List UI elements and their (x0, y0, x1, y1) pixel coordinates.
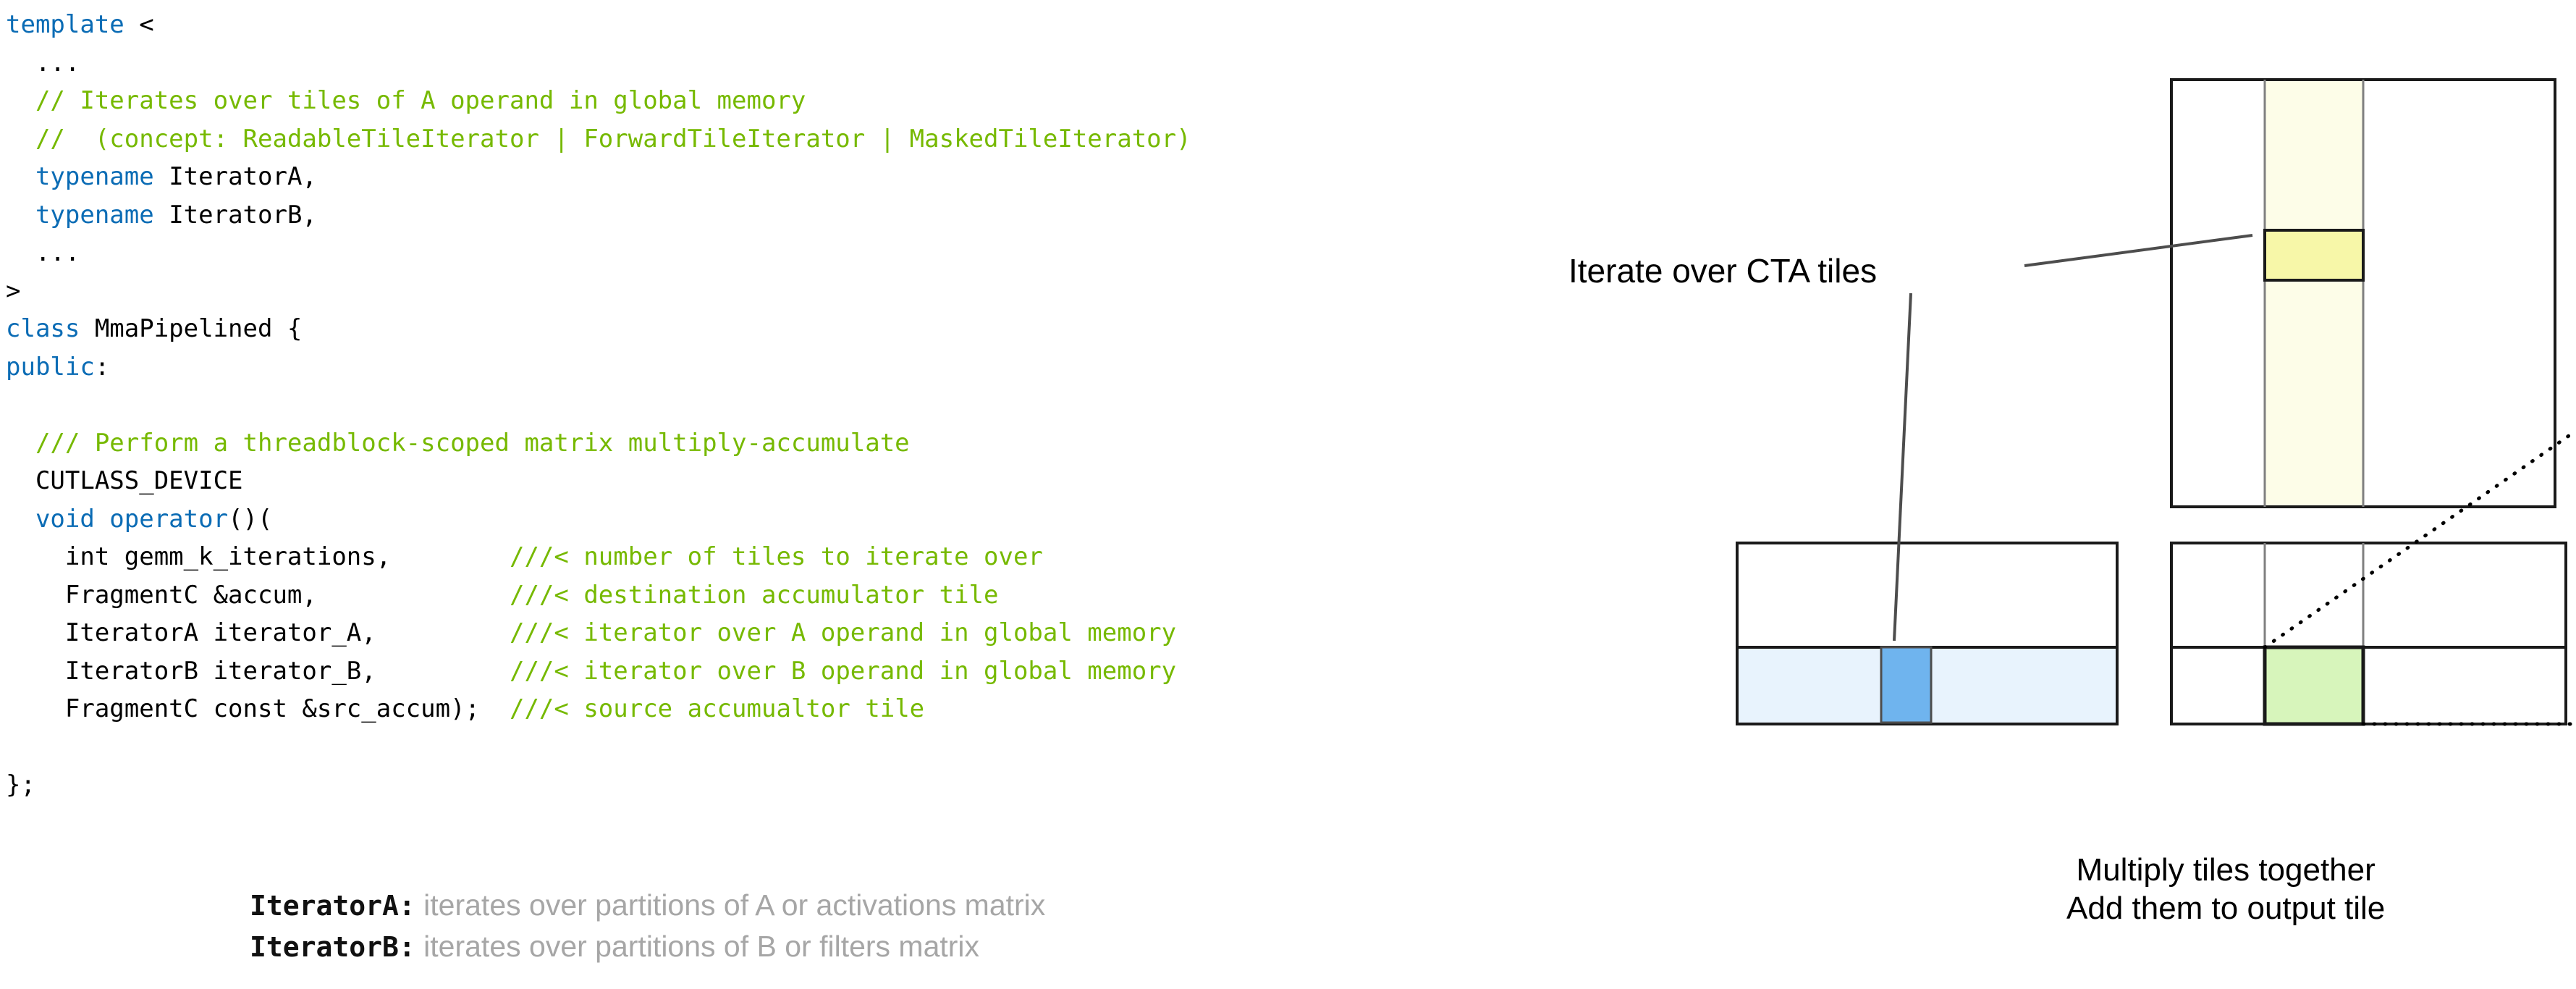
code-line-11: /// Perform a threadblock-scoped matrix … (6, 424, 1671, 463)
leader-line-to-b-tile (2024, 235, 2252, 266)
code-token-cmt: // (concept: ReadableTileIterator | Forw… (6, 125, 1191, 153)
code-line-13: void operator()( (6, 500, 1671, 539)
code-token-cmt: ///< destination accumulator tile (510, 581, 999, 610)
projection-diagonal-dotted (2265, 431, 2576, 647)
a-matrix-outline (1737, 543, 2117, 724)
code-token-pln: IteratorB iterator_B, (6, 657, 510, 686)
panel-b-operand-matrix (2171, 80, 2555, 507)
legend-description: iterates over partitions of A or activat… (415, 888, 1046, 922)
a-active-tile (1881, 647, 1931, 723)
code-token-pln: < (124, 10, 154, 39)
multiply-caption-line-1: Multiply tiles together (2066, 851, 2385, 889)
code-token-kw: template (6, 10, 124, 39)
b-matrix-outline (2171, 80, 2555, 507)
code-token-cmt: /// Perform a threadblock-scoped matrix … (6, 429, 910, 458)
code-token-pln: > (6, 277, 20, 306)
code-token-kw: typename (35, 201, 154, 230)
b-highlight-column (2265, 80, 2363, 507)
code-token-pln: ... (6, 49, 80, 77)
code-line-4: typename IteratorA, (6, 158, 1671, 196)
code-token-pln (6, 505, 35, 534)
iterator-legend: IteratorA: iterates over partitions of A… (250, 885, 1045, 967)
code-line-20: }; (6, 766, 1671, 804)
code-line-9: public: (6, 348, 1671, 387)
code-token-pln (6, 201, 35, 230)
code-token-pln: }; (6, 770, 35, 799)
c-active-tile (2265, 647, 2363, 724)
code-line-17: IteratorB iterator_B, ///< iterator over… (6, 652, 1671, 691)
code-token-cmt: ///< iterator over A operand in global m… (510, 618, 1176, 647)
panel-c-output-matrix (2171, 431, 2576, 724)
code-line-6: ... (6, 234, 1671, 272)
a-highlight-row (1739, 647, 2116, 723)
code-line-15: FragmentC &accum, ///< destination accum… (6, 576, 1671, 615)
code-line-7: > (6, 272, 1671, 311)
code-token-cmt: ///< number of tiles to iterate over (510, 542, 1043, 571)
code-line-1: ... (6, 44, 1671, 83)
code-token-pln: CUTLASS_DEVICE (6, 466, 243, 495)
legend-key: IteratorA: (250, 890, 415, 922)
code-listing: template < ... // Iterates over tiles of… (6, 6, 1671, 804)
b-active-tile (2265, 230, 2363, 280)
code-token-cmt: ///< source accumualtor tile (510, 694, 924, 723)
code-token-kw: typename (35, 162, 154, 191)
c-matrix-outline (2171, 543, 2566, 724)
code-token-kw: void operator (35, 505, 228, 534)
code-token-kw: class (6, 314, 80, 343)
legend-row-1: IteratorB: iterates over partitions of B… (250, 926, 1045, 967)
legend-description: iterates over partitions of B or filters… (415, 930, 979, 963)
code-line-18: FragmentC const &src_accum); ///< source… (6, 690, 1671, 728)
code-line-2: // Iterates over tiles of A operand in g… (6, 82, 1671, 120)
legend-row-0: IteratorA: iterates over partitions of A… (250, 885, 1045, 926)
multiply-tiles-caption: Multiply tiles together Add them to outp… (2066, 851, 2385, 927)
code-token-pln: FragmentC &accum, (6, 581, 510, 610)
code-token-cmt: ///< iterator over B operand in global m… (510, 657, 1176, 686)
multiply-caption-line-2: Add them to output tile (2066, 889, 2385, 927)
code-line-8: class MmaPipelined { (6, 310, 1671, 348)
code-token-pln: int gemm_k_iterations, (6, 542, 510, 571)
code-line-14: int gemm_k_iterations, ///< number of ti… (6, 538, 1671, 576)
code-token-pln: MmaPipelined { (80, 314, 302, 343)
leader-line-to-a-tile (1894, 293, 1911, 641)
code-token-pln: ()( (228, 505, 272, 534)
code-line-10 (6, 386, 1671, 424)
legend-key: IteratorB: (250, 931, 415, 963)
code-line-12: CUTLASS_DEVICE (6, 462, 1671, 500)
iterate-over-cta-tiles-label: Iterate over CTA tiles (1568, 251, 1877, 290)
code-token-pln (6, 162, 35, 191)
code-token-pln: IteratorB, (154, 201, 317, 230)
code-token-pln: IteratorA iterator_A, (6, 618, 510, 647)
code-line-0: template < (6, 6, 1671, 44)
code-token-cmt: // Iterates over tiles of A operand in g… (6, 86, 806, 115)
code-token-pln: : (95, 353, 109, 382)
code-line-19 (6, 728, 1671, 767)
panel-a-operand-matrix (1737, 543, 2117, 724)
code-token-pln: IteratorA, (154, 162, 317, 191)
code-token-pln: FragmentC const &src_accum); (6, 694, 510, 723)
code-token-kw: public (6, 353, 95, 382)
code-line-5: typename IteratorB, (6, 196, 1671, 235)
code-token-pln: ... (6, 238, 80, 267)
code-line-16: IteratorA iterator_A, ///< iterator over… (6, 614, 1671, 652)
code-line-3: // (concept: ReadableTileIterator | Forw… (6, 120, 1671, 159)
